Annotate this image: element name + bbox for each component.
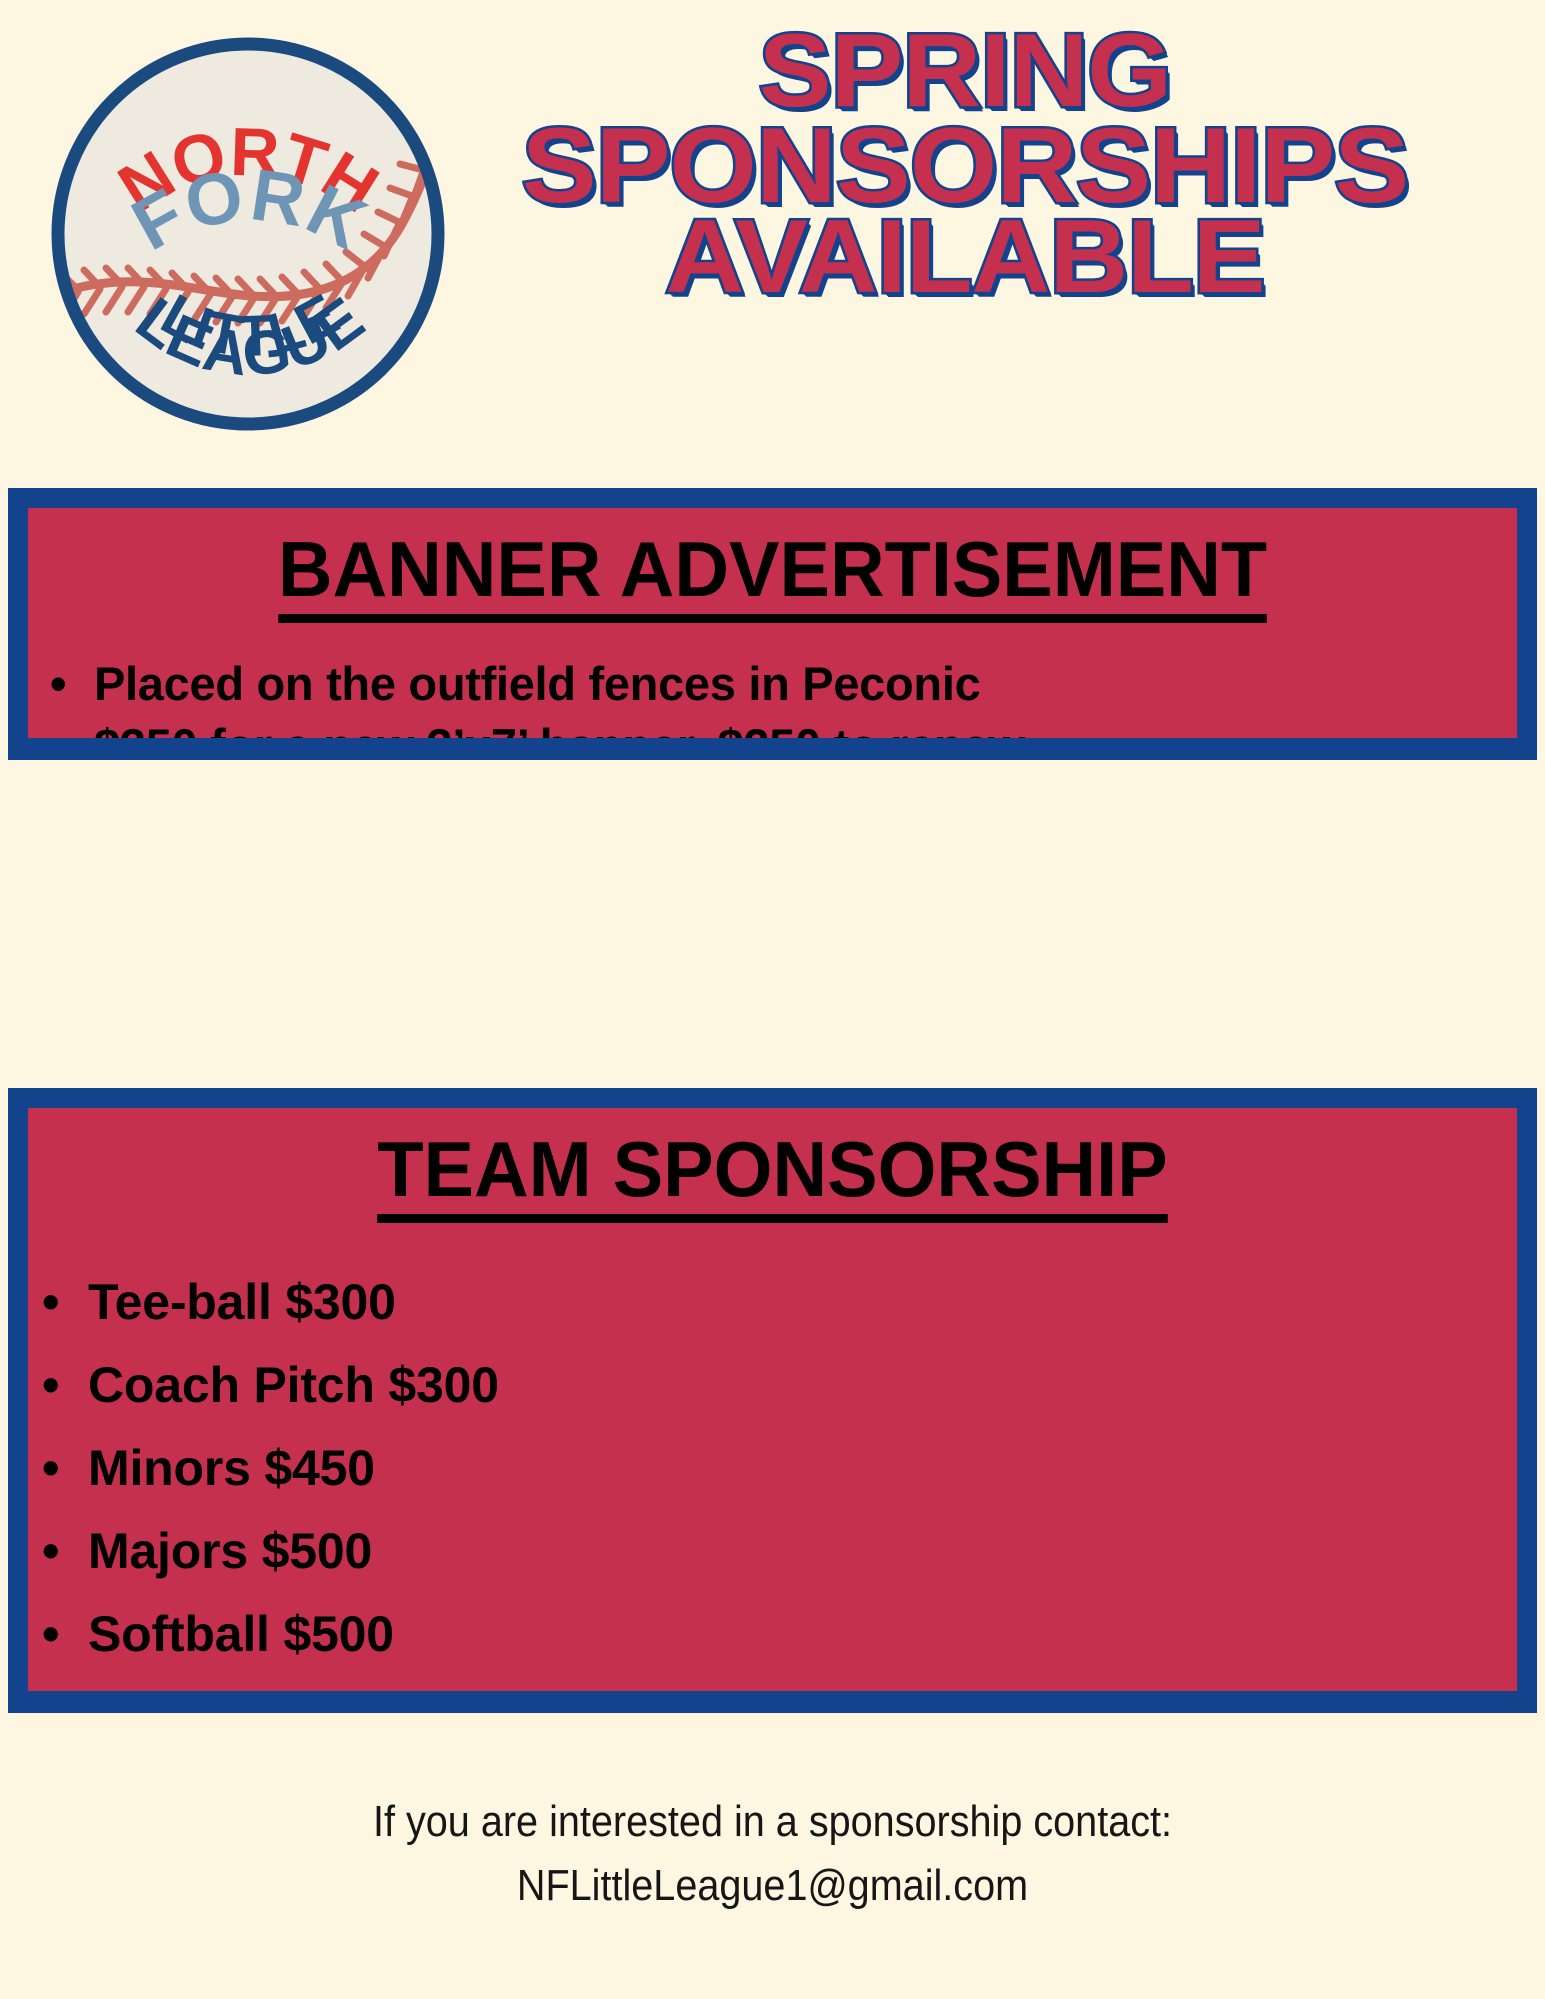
list-item: Coach Pitch $300	[28, 1344, 1517, 1427]
list-item: Placed on the outfield fences in Peconic	[28, 653, 1517, 715]
banner-panel-inner: BANNER ADVERTISEMENT Placed on the outfi…	[28, 508, 1517, 738]
list-item: Majors $500	[28, 1510, 1517, 1593]
team-sponsorship-panel: TEAM SPONSORSHIP Tee-ball $300 Coach Pit…	[8, 1088, 1537, 1713]
list-item: Tee-ball $300	[28, 1261, 1517, 1344]
banner-benefits-list: Placed on the outfield fences in Peconic…	[28, 653, 1517, 738]
page-title: SPRING SPONSORSHIPS AVAILABLE	[400, 26, 1530, 303]
contact-email[interactable]: NFLittleLeague1@gmail.com	[77, 1854, 1468, 1918]
list-item: $350 for a new 3’x7’ banner, $250 to ren…	[28, 715, 1517, 738]
team-price-list: Tee-ball $300 Coach Pitch $300 Minors $4…	[28, 1261, 1517, 1676]
banner-section-heading: BANNER ADVERTISEMENT	[50, 530, 1494, 623]
list-item: Softball $500	[28, 1593, 1517, 1676]
team-section-heading: TEAM SPONSORSHIP	[50, 1130, 1494, 1223]
sponsorship-flyer: NORTH FORK LITTLE LEAGUE SPRING SPONSORS…	[0, 0, 1545, 1999]
team-panel-inner: TEAM SPONSORSHIP Tee-ball $300 Coach Pit…	[28, 1108, 1517, 1691]
contact-prompt: If you are interested in a sponsorship c…	[77, 1790, 1468, 1854]
page-title-line-3: AVAILABLE	[372, 212, 1545, 304]
banner-advertisement-panel: BANNER ADVERTISEMENT Placed on the outfi…	[8, 488, 1537, 760]
contact-footer: If you are interested in a sponsorship c…	[77, 1790, 1468, 1918]
page-title-line-2: SPONSORSHIPS	[372, 118, 1545, 212]
list-item: Minors $450	[28, 1427, 1517, 1510]
